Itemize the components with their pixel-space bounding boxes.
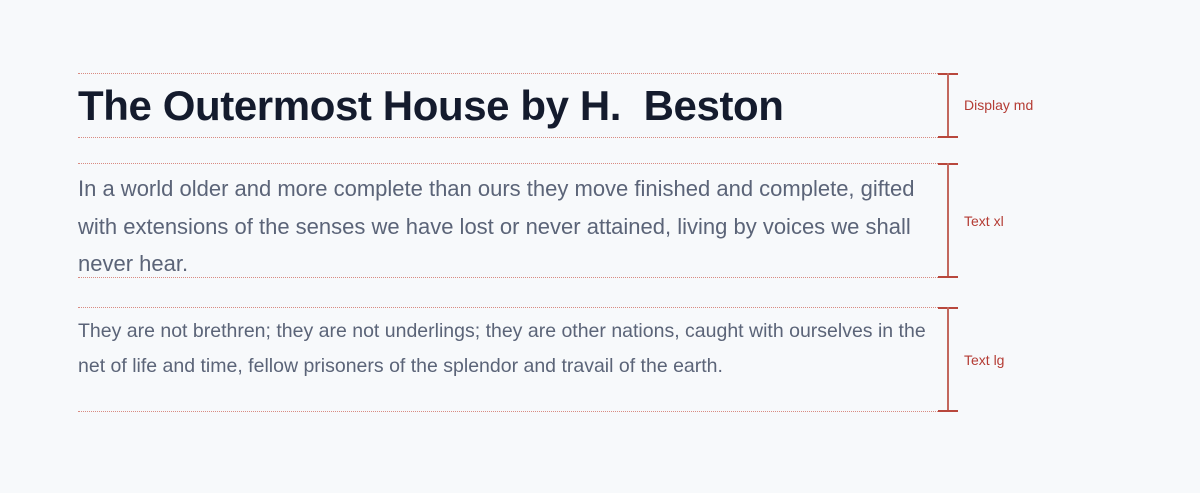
measure-bracket-display-md xyxy=(938,73,958,138)
typography-specimen-sheet: The Outermost House by H. Beston Display… xyxy=(0,0,1200,493)
sample-text-text-lg: They are not brethren; they are not unde… xyxy=(78,314,938,383)
bracket-cap-bottom-icon xyxy=(938,276,958,278)
bracket-stem-icon xyxy=(947,163,949,278)
bracket-cap-bottom-icon xyxy=(938,410,958,412)
sample-text-box: They are not brethren; they are not unde… xyxy=(78,307,938,412)
scale-label-text-lg: Text lg xyxy=(964,352,1004,368)
bracket-cap-bottom-icon xyxy=(938,136,958,138)
scale-label-text-xl: Text xl xyxy=(964,213,1004,229)
bracket-stem-icon xyxy=(947,73,949,138)
measure-bracket-text-lg xyxy=(938,307,958,412)
sample-text-box: In a world older and more complete than … xyxy=(78,163,938,278)
sample-text-box: The Outermost House by H. Beston xyxy=(78,73,938,138)
scale-label-display-md: Display md xyxy=(964,97,1033,113)
bracket-stem-icon xyxy=(947,307,949,412)
measure-bracket-text-xl xyxy=(938,163,958,278)
sample-text-display-md: The Outermost House by H. Beston xyxy=(78,74,938,137)
sample-text-text-xl: In a world older and more complete than … xyxy=(78,170,938,283)
